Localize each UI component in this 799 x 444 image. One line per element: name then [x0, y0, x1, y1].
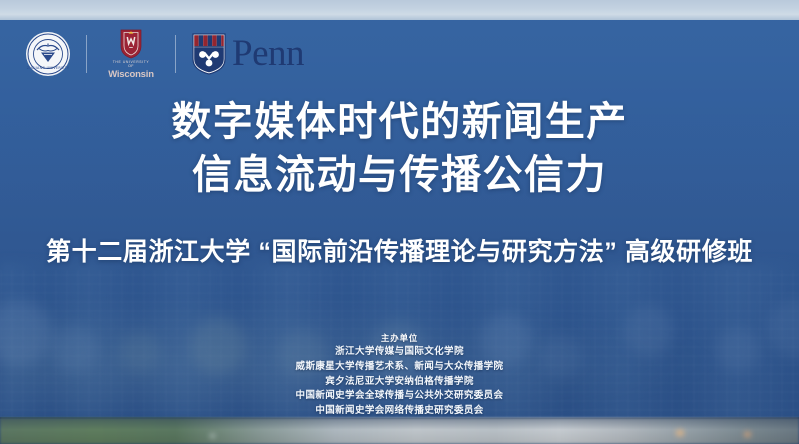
zhejiang-university-seal-icon: ZHEJIANG UNIVERSITY: [26, 32, 70, 76]
page-title: 数字媒体时代的新闻生产 信息流动与传播公信力: [0, 96, 799, 202]
organizer-line: 中国新闻史学会网络传播史研究委员会: [0, 404, 799, 419]
penn-shield-icon: [192, 33, 226, 75]
wisconsin-name-text: Wisconsin: [108, 70, 154, 80]
organizer-line: 浙江大学传媒与国际文化学院: [0, 345, 799, 360]
organizer-line: 中国新闻史学会全球传播与公共外交研究委员会: [0, 389, 799, 404]
logo-divider: [86, 35, 87, 73]
foreground-light: [210, 434, 215, 438]
organizers-block: 主办单位 浙江大学传媒与国际文化学院 威斯康星大学传播艺术系、新闻与大众传播学院…: [0, 332, 799, 419]
conference-poster: ZHEJIANG UNIVERSITY THE UNIVERSITY OF Wi…: [0, 0, 799, 444]
title-line-2: 信息流动与传播公信力: [0, 149, 799, 202]
wisconsin-wordmark: THE UNIVERSITY OF Wisconsin: [108, 61, 154, 79]
wisconsin-of-text: OF: [108, 65, 154, 69]
organizers-heading: 主办单位: [0, 332, 799, 345]
subtitle: 第十二届浙江大学 “国际前沿传播理论与研究方法” 高级研修班: [0, 232, 799, 268]
wisconsin-crest-icon: [119, 29, 143, 59]
logo-university-of-wisconsin: THE UNIVERSITY OF Wisconsin: [103, 28, 159, 80]
penn-wordmark: Penn: [232, 37, 304, 70]
title-line-1: 数字媒体时代的新闻生产: [0, 96, 799, 149]
organizer-line: 宾夕法尼亚大学安纳伯格传播学院: [0, 375, 799, 390]
svg-text:ZHEJIANG UNIVERSITY: ZHEJIANG UNIVERSITY: [27, 66, 70, 70]
logo-zhejiang-university: ZHEJIANG UNIVERSITY: [26, 28, 70, 80]
organizer-line: 威斯康星大学传播艺术系、新闻与大众传播学院: [0, 360, 799, 375]
foreground-light: [744, 432, 751, 437]
logo-divider: [175, 35, 176, 73]
partner-logo-bar: ZHEJIANG UNIVERSITY THE UNIVERSITY OF Wi…: [26, 28, 304, 80]
foreground-light: [676, 430, 684, 436]
logo-university-of-pennsylvania: Penn: [192, 28, 304, 80]
